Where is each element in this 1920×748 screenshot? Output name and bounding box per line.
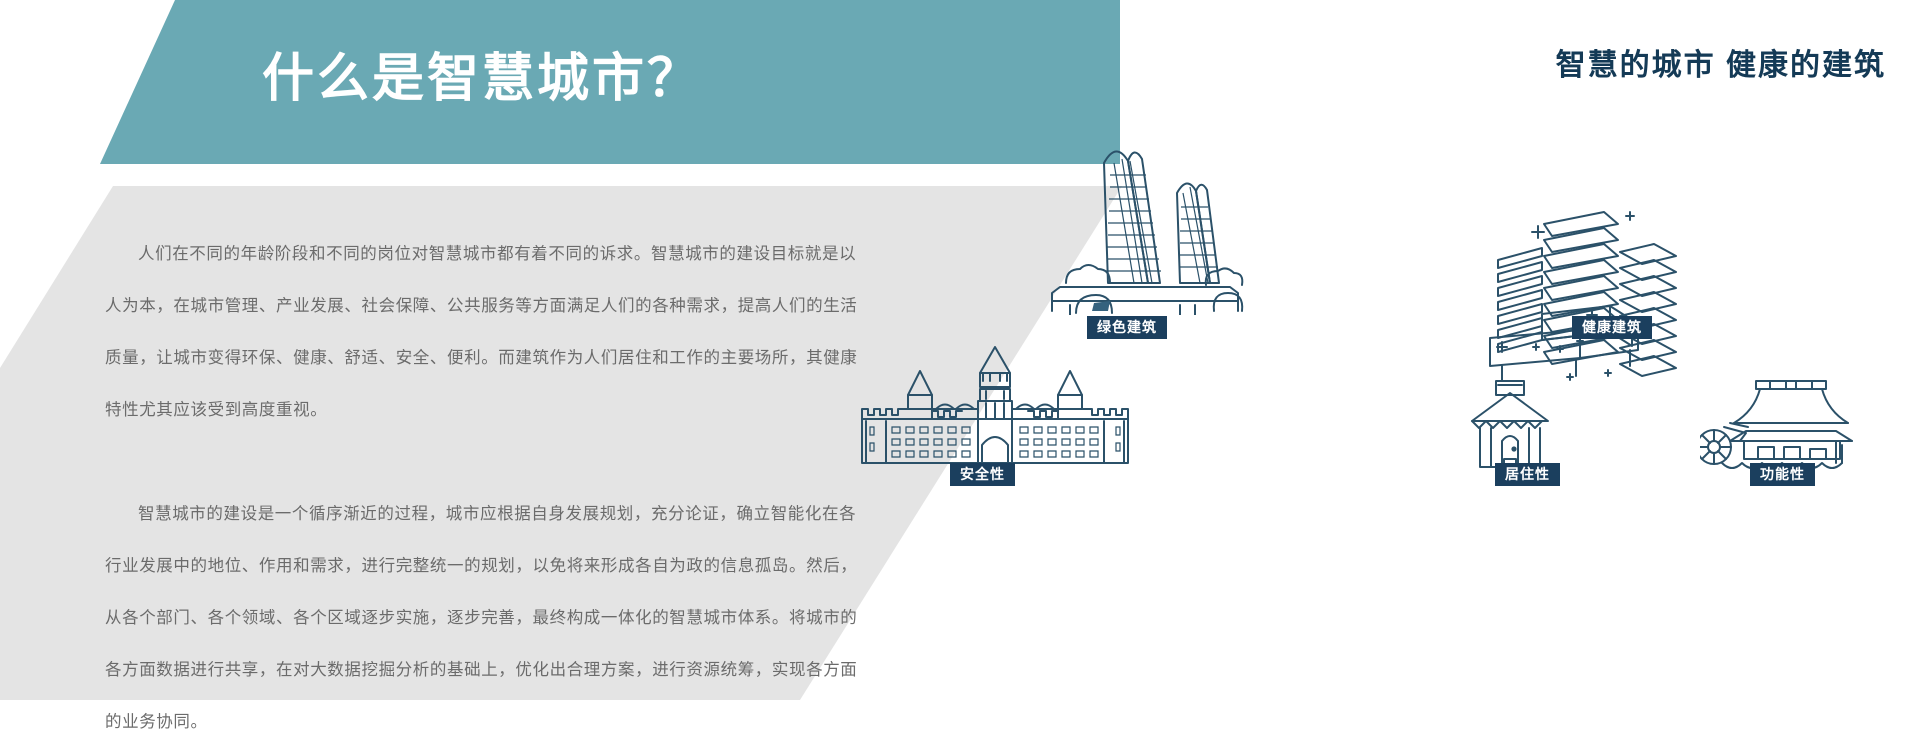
badge-functionality: 功能性 xyxy=(1750,463,1815,486)
paragraph-1: 人们在不同的年龄阶段和不同的岗位对智慧城市都有着不同的诉求。智慧城市的建设目标就… xyxy=(105,228,865,436)
badge-green-building: 绿色建筑 xyxy=(1087,316,1167,339)
house-icon xyxy=(1460,375,1560,475)
badge-health-building: 健康建筑 xyxy=(1572,316,1652,339)
paragraph-2: 智慧城市的建设是一个循序渐近的过程，城市应根据自身发展规划，充分论证，确立智能化… xyxy=(105,488,865,748)
twin-towers-icon xyxy=(1030,115,1260,315)
castle-icon xyxy=(850,345,1140,470)
pavilion-watermill-icon xyxy=(1700,375,1870,475)
page-title: 什么是智慧城市？ xyxy=(262,36,1062,111)
poster-canvas: 什么是智慧城市？ 智慧的城市 健康的建筑 人们在不同的年龄阶段和不同的岗位对智慧… xyxy=(0,0,1920,700)
illustration-area: 绿色建筑 xyxy=(1040,105,1920,685)
hospital-buildings-icon xyxy=(1480,190,1730,390)
badge-livability: 居住性 xyxy=(1495,463,1560,486)
body-copy: 人们在不同的年龄阶段和不同的岗位对智慧城市都有着不同的诉求。智慧城市的建设目标就… xyxy=(105,228,865,748)
right-heading: 智慧的城市 健康的建筑 xyxy=(1556,40,1886,84)
badge-safety: 安全性 xyxy=(950,463,1015,486)
